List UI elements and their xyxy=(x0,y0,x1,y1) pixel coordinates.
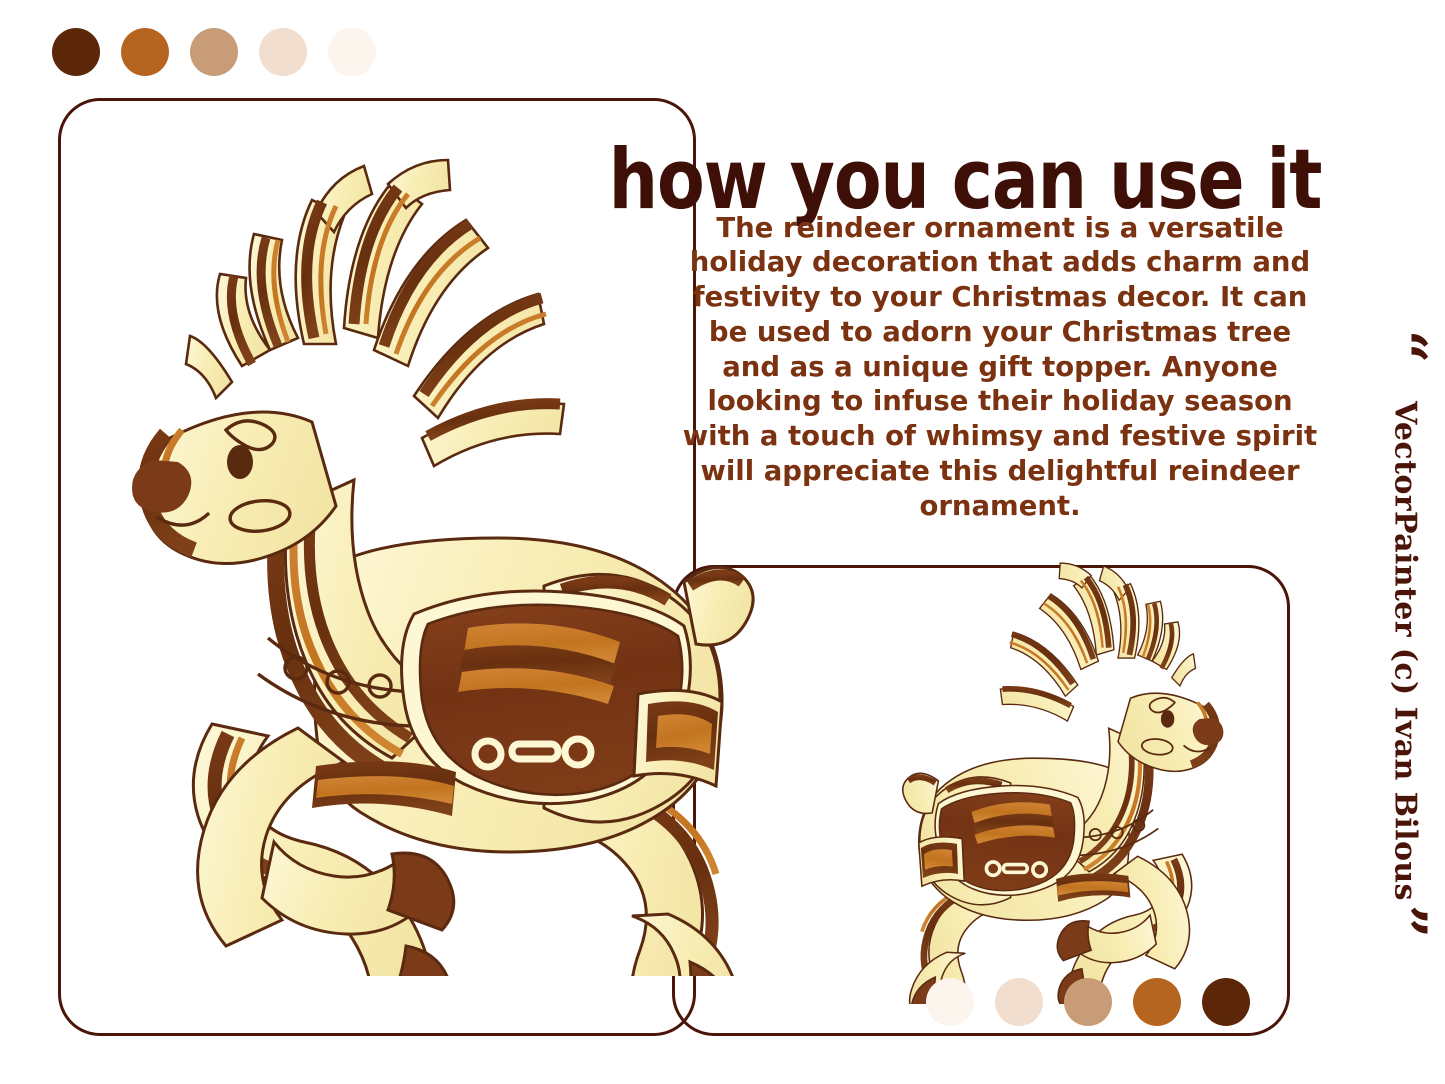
watermark-text: VectorPainter (c) Ivan Bilous xyxy=(1388,401,1423,901)
palette-swatches-top xyxy=(52,28,376,76)
swatch-b3 xyxy=(1064,978,1112,1026)
watermark: “ VectorPainter (c) Ivan Bilous ” xyxy=(1368,296,1442,968)
reindeer-small-body-group xyxy=(903,563,1224,1004)
swatch-b4 xyxy=(1133,978,1181,1026)
frame-mask-top xyxy=(690,94,1390,108)
swatch-4 xyxy=(259,28,307,76)
close-quote-icon: ” xyxy=(1384,905,1425,938)
swatch-1 xyxy=(52,28,100,76)
swatch-b1 xyxy=(926,978,974,1026)
swatch-2 xyxy=(121,28,169,76)
swatch-5 xyxy=(328,28,376,76)
eye xyxy=(227,445,253,479)
reindeer-large-body-group xyxy=(132,160,753,976)
palette-swatches-bottom xyxy=(926,978,1250,1026)
swatch-3 xyxy=(190,28,238,76)
reindeer-ornament-large xyxy=(92,138,832,976)
reindeer-ornament-small xyxy=(862,532,1244,1004)
open-quote-icon: “ xyxy=(1384,330,1425,363)
poster-canvas: how you can use it The reindeer ornament… xyxy=(0,0,1445,1084)
swatch-b2 xyxy=(995,978,1043,1026)
swatch-b5 xyxy=(1202,978,1250,1026)
